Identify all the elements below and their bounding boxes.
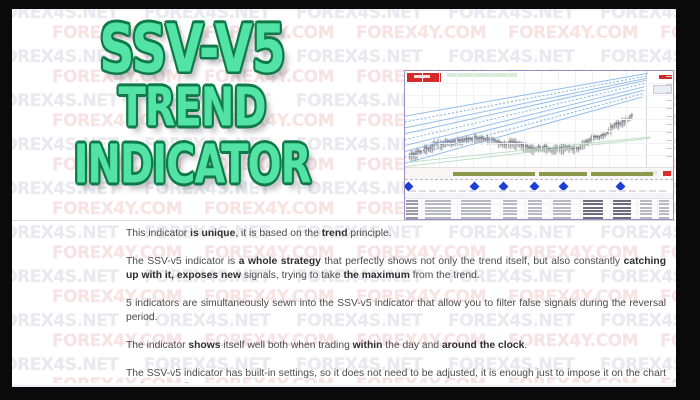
watermark-text: FOREX4Y.COM <box>356 23 486 43</box>
table-cell <box>613 213 631 215</box>
table-cell <box>461 217 491 219</box>
chart-gridline <box>405 143 673 144</box>
signal-row-label <box>469 190 476 192</box>
table-cell <box>613 207 631 209</box>
chart-screenshot-thumbnail[interactable] <box>404 70 674 220</box>
table-cell <box>503 213 517 215</box>
price-axis-tick <box>666 132 672 133</box>
table-cell <box>425 200 451 202</box>
table-cell <box>583 217 603 219</box>
table-cell <box>406 213 418 215</box>
table-cell <box>659 207 669 209</box>
table-cell <box>553 213 571 215</box>
table-cell <box>503 200 517 202</box>
price-axis-tick <box>666 116 672 117</box>
watermark-text: FOREX4S.NET <box>12 267 118 287</box>
signal-row-label <box>629 190 636 192</box>
watermark-text: FOREX4Y.COM <box>508 23 638 43</box>
hero-title-line-1: SSV-V5 <box>12 19 372 79</box>
table-cell <box>640 213 652 215</box>
table-cell <box>640 207 652 209</box>
hero-title-line-2: TREND <box>12 84 372 133</box>
screenshot-root: FOREX4S.NETFOREX4Y.COMFOREX4S.NETFOREX4Y… <box>0 0 700 400</box>
document-page: FOREX4S.NETFOREX4Y.COMFOREX4S.NETFOREX4Y… <box>12 9 676 387</box>
table-cell <box>425 217 451 219</box>
table-cell <box>583 200 603 202</box>
signal-row-label <box>539 190 546 192</box>
table-cell <box>583 203 603 205</box>
price-axis-tick <box>666 84 672 85</box>
histogram-segment <box>591 172 653 176</box>
signal-row-label <box>509 190 516 192</box>
page-bottom-edge <box>12 383 676 387</box>
paragraph-2: The SSV-v5 indicator is a whole strategy… <box>126 255 666 284</box>
table-cell <box>461 200 491 202</box>
chart-gridline <box>405 155 673 156</box>
signal-row-label <box>519 190 526 192</box>
signal-row-label <box>569 190 576 192</box>
table-cell <box>503 203 517 205</box>
watermark-text: FOREX4S.NET <box>448 47 574 67</box>
table-cell <box>406 217 418 219</box>
table-cell <box>461 203 491 205</box>
table-cell <box>425 213 451 215</box>
signal-row-label <box>429 190 436 192</box>
table-cell <box>503 217 517 219</box>
table-cell <box>659 210 669 212</box>
table-cell <box>640 200 652 202</box>
signal-row-label <box>409 190 416 192</box>
table-cell <box>640 217 652 219</box>
signal-row-label <box>599 190 606 192</box>
table-cell <box>613 203 631 205</box>
signal-row-label <box>549 190 556 192</box>
table-cell <box>406 210 418 212</box>
watermark-text: FOREX4Y.COM <box>660 23 676 43</box>
price-axis-tick <box>666 108 672 109</box>
signal-row-label <box>459 190 466 192</box>
table-cell <box>425 207 451 209</box>
signal-row-label <box>419 190 426 192</box>
table-cell <box>613 200 631 202</box>
signal-row-label <box>479 190 486 192</box>
signal-row-label <box>609 190 616 192</box>
table-cell <box>613 210 631 212</box>
price-axis-tick <box>666 76 672 77</box>
table-cell <box>659 217 669 219</box>
paragraph-4: The indicator shows itself well both whe… <box>126 339 666 354</box>
table-header-row <box>405 193 673 199</box>
table-cell <box>553 210 571 212</box>
table-cell <box>461 213 491 215</box>
watermark-text: FOREX4S.NET <box>12 355 118 375</box>
hero-title-block: SSV-V5 TREND INDICATOR <box>12 11 372 219</box>
table-cell <box>659 213 669 215</box>
table-cell <box>613 217 631 219</box>
table-cell <box>425 210 451 212</box>
body-copy: This indicator is unique, it is based on… <box>126 227 666 387</box>
table-cell <box>406 203 418 205</box>
table-cell <box>659 200 669 202</box>
signal-data-table[interactable] <box>405 193 673 219</box>
signal-row-label <box>489 190 496 192</box>
table-row[interactable] <box>405 217 673 220</box>
signal-row-label <box>619 190 626 192</box>
table-cell <box>528 217 542 219</box>
table-cell <box>659 203 669 205</box>
price-chart-panel <box>405 71 673 167</box>
paragraph-1: This indicator is unique, it is based on… <box>126 227 666 242</box>
table-cell <box>461 210 491 212</box>
table-cell <box>503 210 517 212</box>
watermark-text: FOREX4S.NET <box>12 311 118 331</box>
hero-title-line-3: INDICATOR <box>12 141 372 190</box>
signal-row-label <box>649 190 656 192</box>
table-cell <box>640 203 652 205</box>
signal-row-label <box>659 190 666 192</box>
signal-row-label <box>559 190 566 192</box>
price-axis-tick <box>666 92 672 93</box>
table-cell <box>553 200 571 202</box>
table-cell <box>461 207 491 209</box>
table-cell <box>425 203 451 205</box>
signal-row-label <box>579 190 586 192</box>
paragraph-3: 5 indicators are simultaneously sewn int… <box>126 297 666 326</box>
price-axis-tick <box>666 148 672 149</box>
table-cell <box>406 200 418 202</box>
histogram-segment <box>453 172 535 176</box>
table-cell <box>553 217 571 219</box>
signal-row-label <box>439 190 446 192</box>
table-cell <box>528 200 542 202</box>
watermark-text: FOREX4S.NET <box>12 223 118 243</box>
table-cell <box>528 203 542 205</box>
price-axis-tick <box>666 156 672 157</box>
histogram-segment <box>539 172 587 176</box>
table-cell <box>528 207 542 209</box>
table-cell <box>528 213 542 215</box>
table-cell <box>640 210 652 212</box>
signal-row-label <box>639 190 646 192</box>
table-cell <box>406 207 418 209</box>
watermark-text: FOREX4S.NET <box>600 47 676 67</box>
signal-row-label <box>529 190 536 192</box>
price-axis-tick <box>666 140 672 141</box>
watermark-text: FOREX4S.NET <box>448 9 574 23</box>
table-cell <box>528 210 542 212</box>
watermark-text: FOREX4S.NET <box>600 9 676 23</box>
table-cell <box>583 213 603 215</box>
table-cell <box>503 207 517 209</box>
table-cell <box>583 207 603 209</box>
signal-row-label <box>499 190 506 192</box>
table-cell <box>553 207 571 209</box>
signal-row-label <box>449 190 456 192</box>
price-axis-tick <box>666 124 672 125</box>
table-cell <box>583 210 603 212</box>
table-cell <box>553 203 571 205</box>
signal-row-label <box>589 190 596 192</box>
strip-alert-marker <box>663 171 671 176</box>
section-divider <box>12 220 676 221</box>
chart-gridline <box>405 131 673 132</box>
price-axis-tick <box>666 100 672 101</box>
